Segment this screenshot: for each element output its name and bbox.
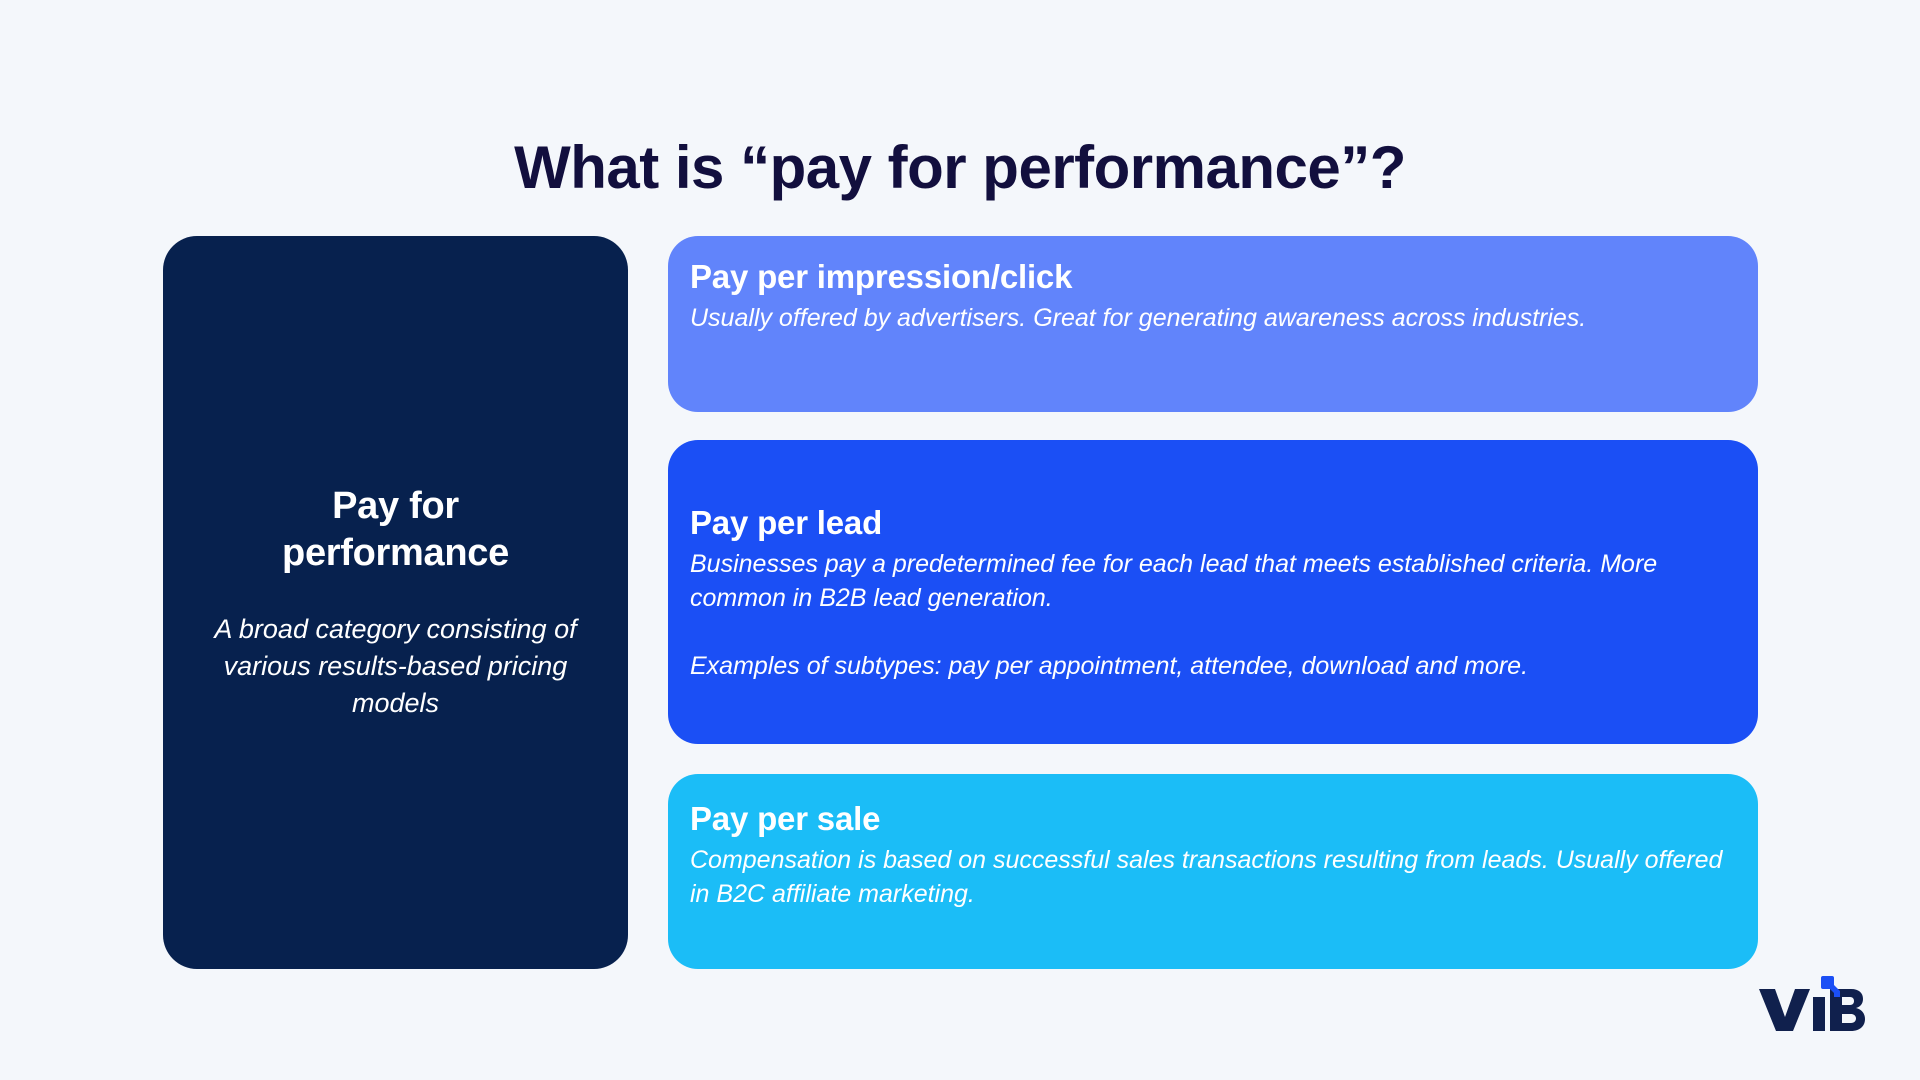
category-card-description: A broad category consisting of various r… [206,611,586,722]
model-card-pay-per-impression-click: Pay per impression/click Usually offered… [668,236,1758,412]
model-card-title: Pay per impression/click [690,256,1732,298]
model-card-pay-per-sale: Pay per sale Compensation is based on su… [668,774,1758,969]
model-card-description: Compensation is based on successful sale… [690,843,1732,911]
page-title: What is “pay for performance”? [0,132,1920,204]
model-card-title: Pay per sale [690,798,1732,840]
vib-logo-icon [1755,973,1865,1035]
model-card-description-secondary: Examples of subtypes: pay per appointmen… [690,649,1732,683]
infographic-canvas: What is “pay for performance”? Pay for p… [0,0,1920,1080]
model-card-description: Usually offered by advertisers. Great fo… [690,301,1732,335]
category-card-title: Pay for performance [246,483,546,577]
category-card: Pay for performance A broad category con… [163,236,628,969]
model-card-title: Pay per lead [690,502,1732,544]
model-card-description: Businesses pay a predetermined fee for e… [690,547,1732,615]
model-card-stack: Pay per impression/click Usually offered… [668,236,1758,969]
model-card-pay-per-lead: Pay per lead Businesses pay a predetermi… [668,440,1758,744]
